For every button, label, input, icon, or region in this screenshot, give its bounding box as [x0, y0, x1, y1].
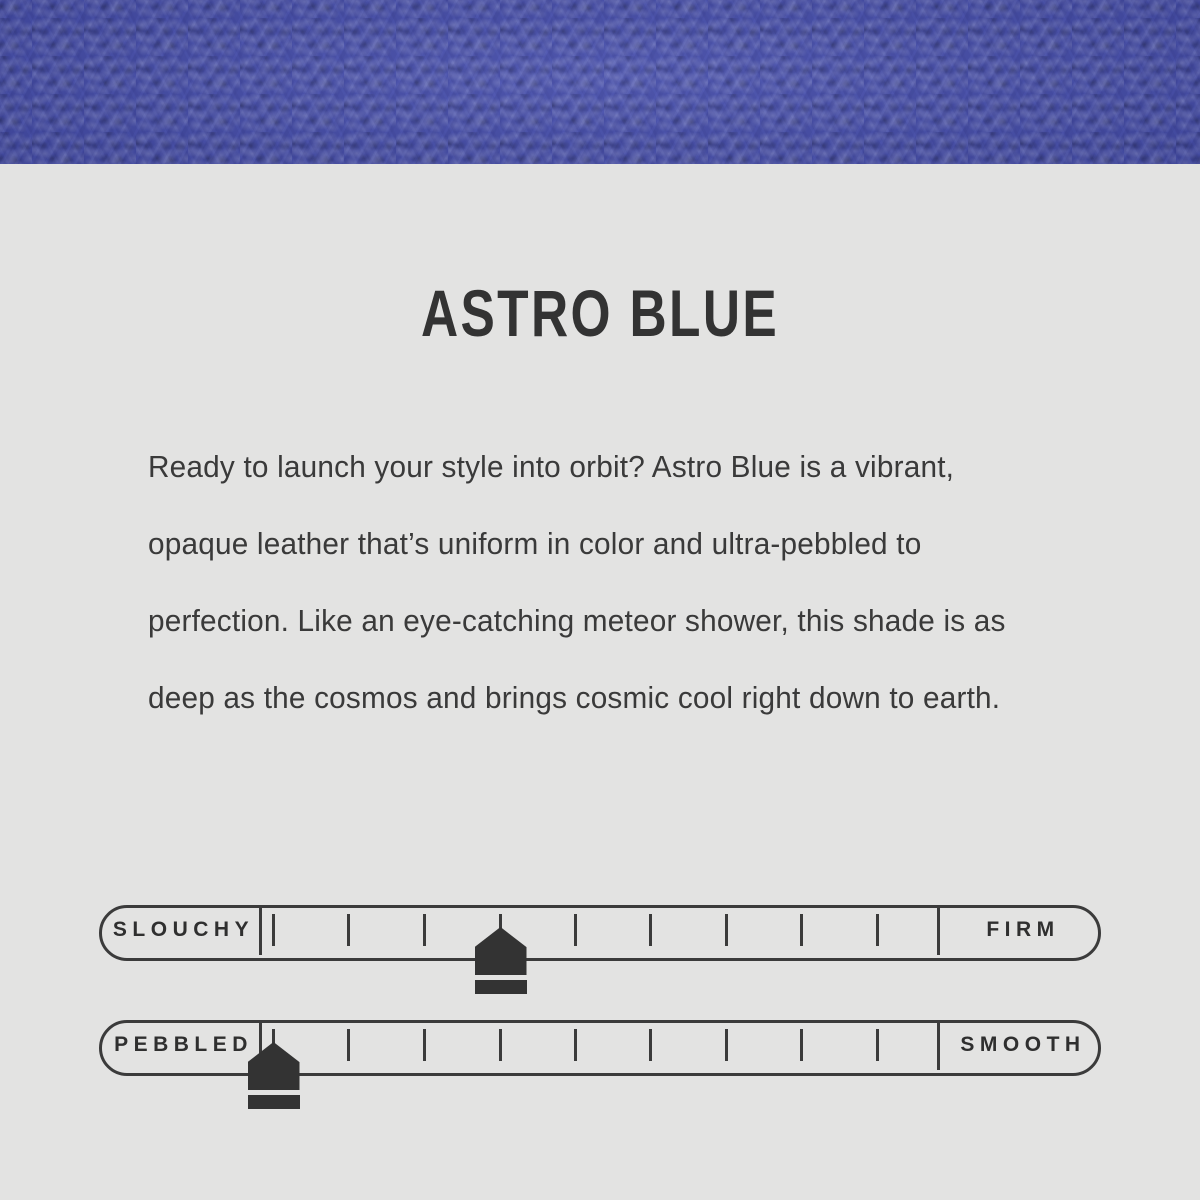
marker-base-bar-icon — [475, 980, 527, 994]
firmness-scale-marker[interactable] — [499, 914, 502, 946]
tick-7 — [725, 1029, 728, 1061]
tick-9 — [876, 1029, 879, 1061]
tick-2 — [347, 1029, 350, 1061]
tick-3 — [423, 1029, 426, 1061]
tick-4 — [499, 1029, 502, 1061]
description-line-3: perfection. Like an eye-catching meteor … — [148, 582, 1018, 659]
tick-6 — [649, 914, 652, 946]
texture-scale-marker[interactable] — [272, 1029, 275, 1061]
texture-scale[interactable]: PEBBLED SMOOTH — [99, 1020, 1101, 1076]
description-line-4: deep as the cosmos and brings cosmic coo… — [148, 659, 1018, 736]
marker-base-bar-icon — [248, 1095, 300, 1109]
description-line-2: opaque leather that’s uniform in color a… — [148, 505, 1018, 582]
swatch-vignette — [0, 0, 1200, 164]
tick-6 — [649, 1029, 652, 1061]
tick-8 — [800, 1029, 803, 1061]
tick-7 — [725, 914, 728, 946]
leather-swatch-image — [0, 0, 1200, 164]
description-line-1: Ready to launch your style into orbit? A… — [148, 428, 1018, 505]
tick-9 — [876, 914, 879, 946]
tick-5 — [574, 914, 577, 946]
page-title: ASTRO BLUE — [132, 280, 1068, 346]
product-swatch-card: ASTRO BLUE Ready to launch your style in… — [0, 0, 1200, 1200]
attribute-scales: SLOUCHY FIRM PEBBLED — [99, 905, 1101, 1135]
tick-5 — [574, 1029, 577, 1061]
tick-8 — [800, 914, 803, 946]
tick-2 — [347, 914, 350, 946]
texture-scale-right-divider — [937, 1020, 940, 1070]
firmness-scale[interactable]: SLOUCHY FIRM — [99, 905, 1101, 961]
marker-pentagon-icon — [475, 927, 527, 975]
product-description: Ready to launch your style into orbit? A… — [148, 428, 1018, 736]
texture-scale-ticks — [262, 1020, 937, 1070]
tick-3 — [423, 914, 426, 946]
tick-1 — [272, 914, 275, 946]
firmness-scale-right-divider — [937, 905, 940, 955]
firmness-scale-ticks — [262, 905, 937, 955]
